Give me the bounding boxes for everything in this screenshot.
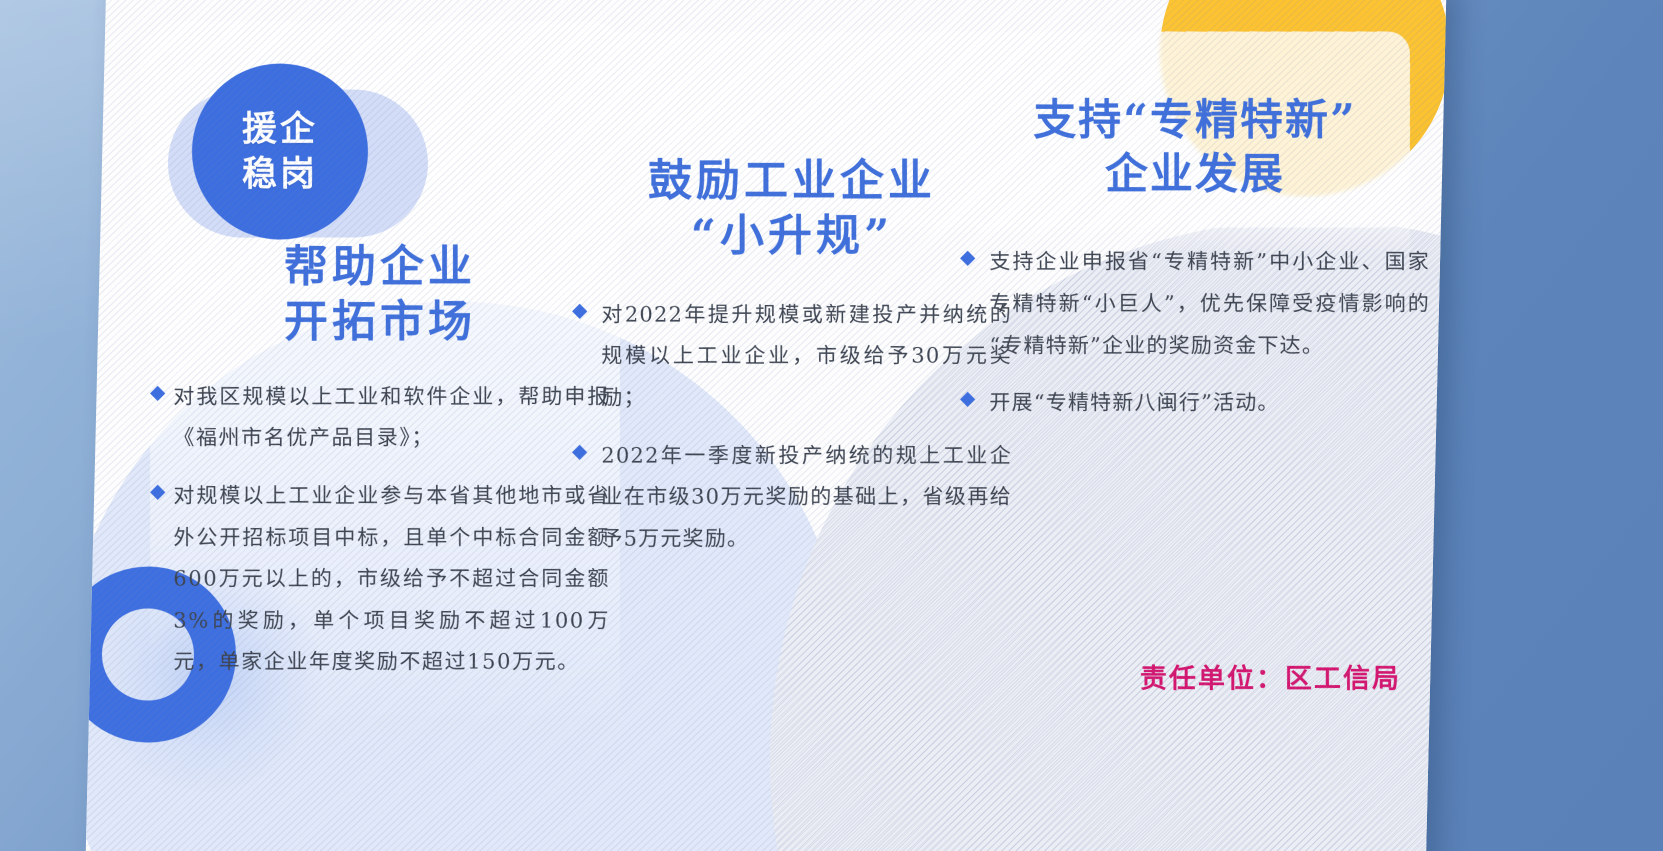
list-item: ◆ 支持企业申报省“专精特新”中小企业、国家专精特新“小巨人”，优先保障受疫情影… [960, 242, 1430, 367]
list-item: ◆ 开展“专精特新八闽行”活动。 [960, 383, 1430, 425]
column-support-specialized-new-enterprises: 支持“专精特新” 企业发展 ◆ 支持企业申报省“专精特新”中小企业、国家专精特新… [960, 94, 1430, 441]
column-1-heading: 帮助企业 开拓市场 [150, 240, 610, 351]
slogan-badge-line-2: 稳岗 [242, 152, 318, 198]
list-item: ◆ 对2022年提升规模或新建投产并纳统的规模以上工业企业，市级给予30万元奖励… [572, 294, 1012, 419]
diamond-bullet-icon: ◆ [960, 383, 975, 415]
diamond-bullet-icon: ◆ [960, 242, 975, 274]
column-3-heading: 支持“专精特新” 企业发展 [960, 94, 1430, 202]
column-2-bullet-list: ◆ 对2022年提升规模或新建投产并纳统的规模以上工业企业，市级给予30万元奖励… [572, 294, 1012, 559]
column-3-bullet-list: ◆ 支持企业申报省“专精特新”中小企业、国家专精特新“小巨人”，优先保障受疫情影… [960, 242, 1430, 424]
column-2-bullet-2-text: 2022年一季度新投产纳统的规上工业企业在市级30万元奖励的基础上，省级再给予5… [601, 435, 1012, 560]
column-help-enterprises-expand-market: 帮助企业 开拓市场 ◆ 对我区规模以上工业和软件企业，帮助申报《福州市名优产品目… [150, 240, 610, 700]
diamond-bullet-icon: ◆ [572, 294, 587, 326]
slogan-badge: 援企 稳岗 [192, 64, 368, 240]
responsible-unit-note: 责任单位：区工信局 [1140, 657, 1401, 696]
poster-card: 援企 稳岗 帮助企业 开拓市场 ◆ 对我区规模以上工业和软件企业，帮助申报《福州… [85, 0, 1446, 851]
column-1-bullet-2-text: 对规模以上工业企业参与本省其他地市或省外公开招标项目中标，且单个中标合同金额60… [173, 476, 610, 684]
list-item: ◆ 对我区规模以上工业和软件企业，帮助申报《福州市名优产品目录》； [150, 376, 610, 459]
poster-content: 援企 稳岗 帮助企业 开拓市场 ◆ 对我区规模以上工业和软件企业，帮助申报《福州… [85, 2, 1446, 851]
diamond-bullet-icon: ◆ [150, 376, 165, 408]
diamond-bullet-icon: ◆ [572, 435, 587, 467]
poster-card-inner: 援企 稳岗 帮助企业 开拓市场 ◆ 对我区规模以上工业和软件企业，帮助申报《福州… [85, 0, 1446, 851]
column-1-bullet-list: ◆ 对我区规模以上工业和软件企业，帮助申报《福州市名优产品目录》； ◆ 对规模以… [150, 376, 610, 683]
column-2-bullet-1-text: 对2022年提升规模或新建投产并纳统的规模以上工业企业，市级给予30万元奖励； [601, 294, 1012, 419]
list-item: ◆ 对规模以上工业企业参与本省其他地市或省外公开招标项目中标，且单个中标合同金额… [150, 476, 610, 684]
diamond-bullet-icon: ◆ [150, 476, 165, 508]
column-2-heading: 鼓励工业企业 “小升规” [572, 154, 1012, 265]
poster-stage: 援企 稳岗 帮助企业 开拓市场 ◆ 对我区规模以上工业和软件企业，帮助申报《福州… [0, 0, 1663, 851]
column-3-bullet-2-text: 开展“专精特新八闽行”活动。 [989, 383, 1279, 425]
column-3-bullet-1-text: 支持企业申报省“专精特新”中小企业、国家专精特新“小巨人”，优先保障受疫情影响的… [989, 242, 1430, 367]
list-item: ◆ 2022年一季度新投产纳统的规上工业企业在市级30万元奖励的基础上，省级再给… [572, 435, 1012, 560]
slogan-badge-line-1: 援企 [242, 106, 318, 152]
column-1-bullet-1-text: 对我区规模以上工业和软件企业，帮助申报《福州市名优产品目录》； [173, 376, 610, 459]
column-encourage-industrial-upgrade: 鼓励工业企业 “小升规” ◆ 对2022年提升规模或新建投产并纳统的规模以上工业… [572, 154, 1012, 576]
